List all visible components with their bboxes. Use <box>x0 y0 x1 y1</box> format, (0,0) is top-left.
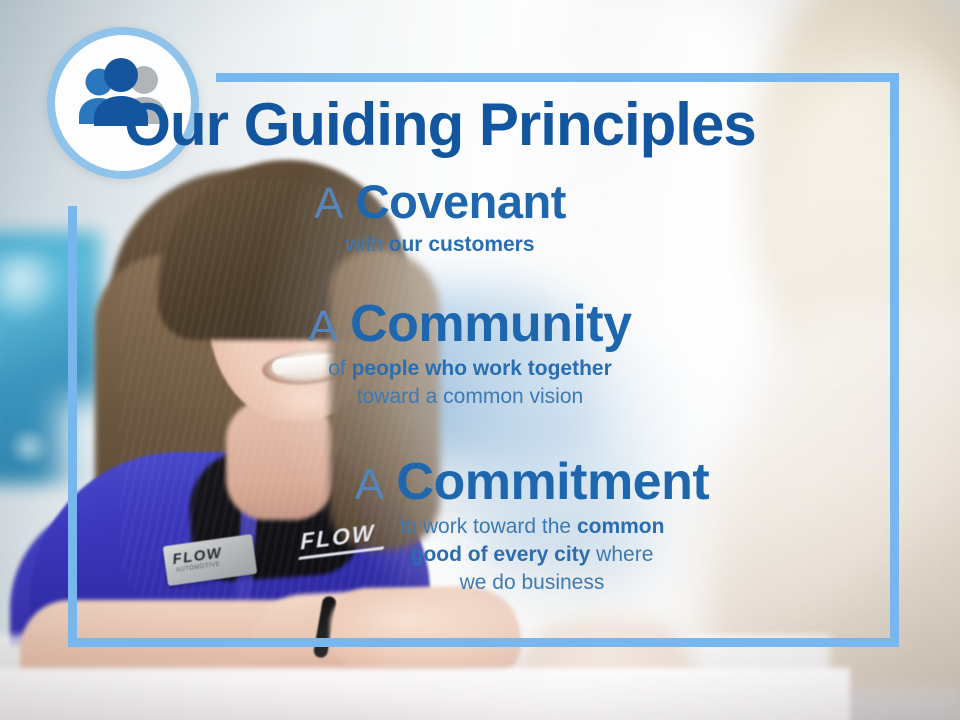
body-line: we do business <box>92 569 960 597</box>
text-content: Our Guiding Principles A Covenant with o… <box>0 0 960 720</box>
principle-covenant-heading: A Covenant <box>0 178 880 227</box>
guiding-principles-banner: FLOW FLOW AUTOMOTIVE Our Guiding Princi <box>0 0 960 720</box>
principle-community-article: A <box>308 302 337 351</box>
principle-community-word: Community <box>350 295 632 353</box>
principle-community-body: of people who work togethertoward a comm… <box>30 355 910 411</box>
principle-covenant-article: A <box>314 179 343 228</box>
body-line: toward a common vision <box>30 383 910 411</box>
principle-covenant-word: Covenant <box>356 175 566 228</box>
body-line: good of every city where <box>92 541 960 569</box>
body-line: to work toward the common <box>92 513 960 541</box>
principle-commitment-heading: A Commitment <box>92 456 960 509</box>
page-title: Our Guiding Principles <box>0 95 880 155</box>
principle-commitment: A Commitment to work toward the commongo… <box>92 456 960 597</box>
principle-community-heading: A Community <box>30 298 910 351</box>
body-line: of people who work together <box>30 355 910 383</box>
principle-covenant-body: with our customers <box>0 231 880 259</box>
principle-commitment-article: A <box>355 460 384 509</box>
body-line: with our customers <box>0 231 880 259</box>
principle-commitment-word: Commitment <box>396 453 709 511</box>
principle-covenant: A Covenant with our customers <box>0 178 880 259</box>
principle-commitment-body: to work toward the commongood of every c… <box>92 513 960 597</box>
principle-community: A Community of people who work togethert… <box>30 298 910 411</box>
